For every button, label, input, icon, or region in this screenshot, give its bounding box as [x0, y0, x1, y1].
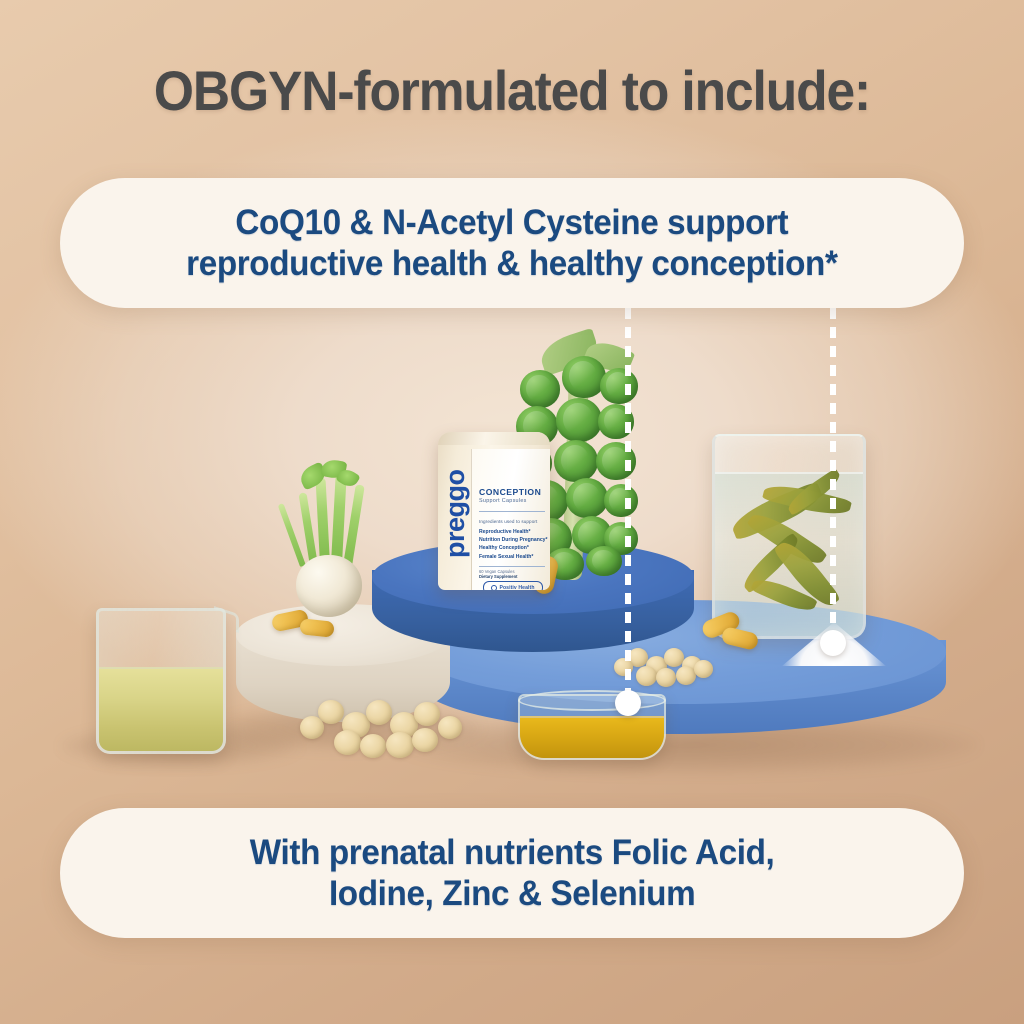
bottle-cap [438, 432, 550, 445]
company-badge: Positiv Health [483, 581, 543, 590]
label-capsule-count: 60 Vegan Capsules Dietary Supplement [479, 569, 547, 579]
callout-card-bottom: With prenatal nutrients Folic Acid, Iodi… [60, 808, 964, 938]
leader-dot-left [615, 690, 641, 716]
infographic-canvas: OBGYN-formulated to include: [0, 0, 1024, 1024]
callout-top-text: CoQ10 & N-Acetyl Cysteine support reprod… [162, 202, 863, 285]
bottle-label: CONCEPTION Support Capsules Ingredients … [471, 449, 550, 590]
label-title: CONCEPTION [479, 487, 547, 497]
company-badge-label: Positiv Health [499, 585, 534, 591]
label-benefits-list: Reproductive Health* Nutrition During Pr… [479, 528, 550, 561]
callout-bottom-line1: With prenatal nutrients Folic Acid, [250, 832, 775, 873]
label-benefits-intro: Ingredients used to support [479, 519, 549, 524]
benefit-item: Nutrition During Pregnancy* [479, 536, 550, 544]
callout-top-line2: reproductive health & healthy conception… [186, 243, 837, 284]
brand-logo: preggo [440, 454, 470, 574]
product-bottle[interactable]: preggo CONCEPTION Support Capsules Ingre… [438, 432, 550, 590]
label-subtitle: Support Capsules [479, 498, 547, 504]
benefit-item: Reproductive Health* [479, 528, 550, 536]
benefit-item: Female Sexual Health* [479, 553, 550, 561]
callout-bottom-line2: Iodine, Zinc & Selenium [250, 873, 775, 914]
leader-line-right [830, 308, 836, 640]
benefit-item: Healthy Conception* [479, 544, 550, 552]
supplement-type-text: Dietary Supplement [479, 574, 517, 579]
positiv-ring-icon [491, 585, 497, 591]
leader-dot-right [820, 630, 846, 656]
label-divider-bottom [479, 566, 545, 567]
callout-card-top: CoQ10 & N-Acetyl Cysteine support reprod… [60, 178, 964, 308]
callout-top-line1: CoQ10 & N-Acetyl Cysteine support [186, 202, 837, 243]
callout-bottom-text: With prenatal nutrients Folic Acid, Iodi… [225, 832, 799, 915]
leader-line-left [625, 308, 631, 700]
label-divider-top [479, 511, 545, 512]
